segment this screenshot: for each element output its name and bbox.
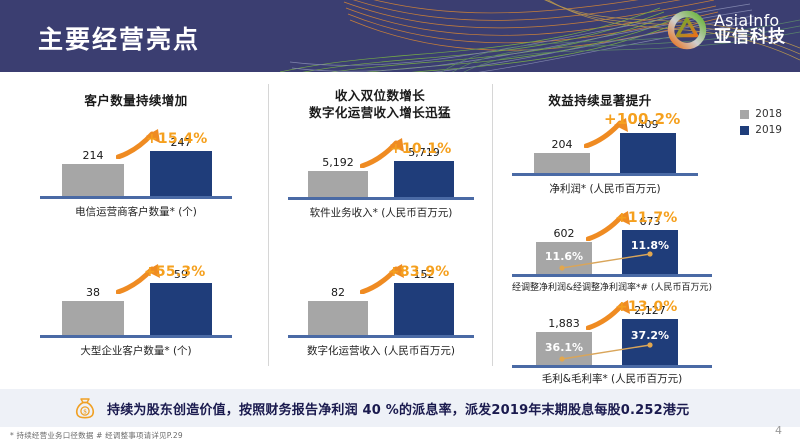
growth-percent: +11.7% (616, 210, 678, 226)
ratio-label-2019: 37.2% (624, 329, 676, 342)
chart-legend: 2018 2019 (740, 108, 782, 140)
growth-percent: +10.1% (390, 141, 452, 157)
ratio-label-2018: 11.6% (538, 250, 590, 263)
page-header: 主要经营亮点 AsiaInfo 亚信科技 (0, 0, 800, 72)
chart-baseline (512, 173, 698, 176)
chart-enterprise-customers: 38 59 +55.3% 大型企业客户数量* (个) (40, 270, 232, 338)
chart-baseline (512, 365, 712, 368)
bar-value-2018: 214 (62, 149, 124, 162)
bar-2018 (308, 301, 368, 335)
growth-percent: +55.3% (144, 264, 206, 280)
bar-2018 (308, 171, 368, 197)
bar-2018 (62, 164, 124, 196)
column-title-customers: 客户数量持续增加 (38, 92, 234, 109)
chart-baseline (288, 335, 474, 338)
chart-telecom-customers: 214 247 +15.4% 电信运营商客户数量* (个) (40, 134, 232, 199)
chart-digital-ops-revenue: 82 152 +83.9% 数字化运营收入 (人民币百万元) (288, 270, 474, 338)
column-title-revenue: 收入双位数增长 数字化运营收入增长迅猛 (282, 87, 478, 122)
bar-2018 (62, 301, 124, 335)
column-title-revenue-line1: 收入双位数增长 (282, 87, 478, 104)
chart-software-revenue: 5,192 5,719 +10.1% 软件业务收入* (人民币百万元) (288, 144, 474, 200)
brand-logo: AsiaInfo 亚信科技 (667, 10, 786, 50)
chart-axis-label: 软件业务收入* (人民币百万元) (288, 205, 474, 220)
chart-axis-label: 经调整净利润&经调整净利润率*# (人民币百万元) (512, 280, 712, 293)
logo-text-cn: 亚信科技 (714, 29, 786, 47)
legend-item-2019: 2019 (740, 124, 782, 136)
legend-label-2019: 2019 (755, 124, 782, 136)
growth-percent: +13.0% (616, 299, 678, 315)
money-bag-icon: $ (72, 395, 98, 421)
chart-baseline (512, 274, 712, 277)
dividend-banner: $ 持续为股东创造价值，按照财务报告净利润 40 %的派息率，派发2019年末期… (0, 389, 800, 427)
page-number: 4 (775, 424, 782, 437)
column-divider-2 (492, 84, 493, 366)
page-title: 主要经营亮点 (38, 20, 200, 56)
chart-net-profit: 204 409 +100.2% 净利润* (人民币百万元) (512, 124, 698, 176)
bar-value-2018: 602 (534, 227, 594, 240)
chart-axis-label: 大型企业客户数量* (个) (40, 343, 232, 358)
chart-baseline (40, 196, 232, 199)
legend-item-2018: 2018 (740, 108, 782, 120)
legend-swatch-2019 (740, 126, 749, 135)
legend-swatch-2018 (740, 110, 749, 119)
footnote-text: * 持续经营业务口径数据 # 经调整事项请详见P.29 (10, 430, 183, 441)
column-title-profit: 效益持续显著提升 (510, 92, 690, 109)
asiainfo-ring-icon (667, 10, 707, 50)
column-title-revenue-line2: 数字化运营收入增长迅猛 (282, 104, 478, 121)
chart-baseline (40, 335, 232, 338)
bar-value-2018: 82 (308, 286, 368, 299)
chart-axis-label: 毛利&毛利率* (人民币百万元) (512, 371, 712, 386)
chart-gross-profit: 1,883 2,127 36.1% 37.2% +13.0% 毛利&毛利率* (… (512, 306, 712, 368)
bar-value-2018: 38 (62, 286, 124, 299)
growth-percent: +100.2% (604, 110, 680, 128)
chart-axis-label: 电信运营商客户数量* (个) (40, 204, 232, 219)
chart-axis-label: 数字化运营收入 (人民币百万元) (288, 343, 474, 358)
column-divider-1 (268, 84, 269, 366)
bar-value-2018: 204 (534, 138, 590, 151)
chart-baseline (288, 197, 474, 200)
bar-2018 (534, 153, 590, 173)
legend-label-2018: 2018 (755, 108, 782, 120)
chart-adjusted-net-profit: 602 673 11.6% 11.8% +11.7% 经调整净利润&经调整净利润… (512, 220, 712, 277)
growth-percent: +83.9% (388, 264, 450, 280)
growth-percent: +15.4% (146, 131, 208, 147)
dividend-banner-text: 持续为股东创造价值，按照财务报告净利润 40 %的派息率，派发2019年末期股息… (107, 399, 689, 418)
chart-axis-label: 净利润* (人民币百万元) (512, 181, 698, 196)
ratio-label-2018: 36.1% (538, 341, 590, 354)
slide-body: 客户数量持续增加 收入双位数增长 数字化运营收入增长迅猛 效益持续显著提升 20… (0, 72, 800, 389)
